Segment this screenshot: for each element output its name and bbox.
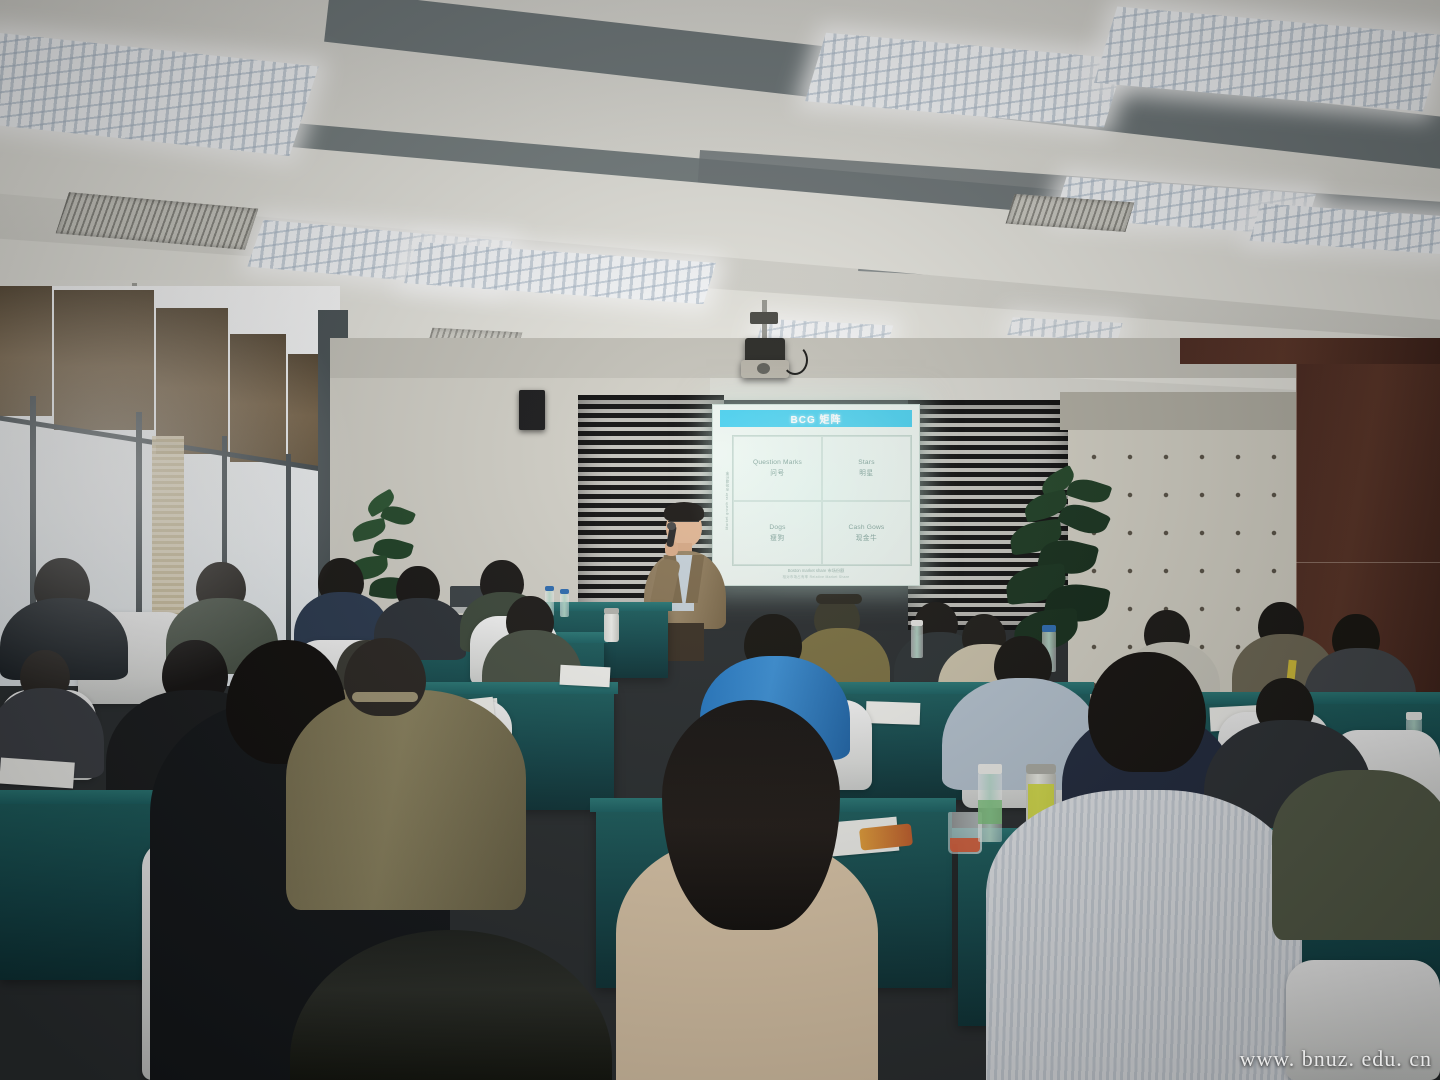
cell-label-en: Question Marks: [753, 459, 802, 466]
window-shade: [230, 334, 286, 462]
handout-paper: [560, 665, 611, 688]
watermark: www. bnuz. edu. cn: [1239, 1046, 1432, 1072]
matrix-cell-dogs: Dogs 瘦狗: [733, 501, 822, 566]
audience-head: [344, 638, 426, 716]
audience-body-striped-shirt: [986, 790, 1302, 1080]
matrix-cell-cash-cows: Cash Gows 现金牛: [822, 501, 911, 566]
cell-label-en: Stars: [858, 459, 874, 466]
window-shade: [0, 286, 52, 416]
cell-label-cn: 明星: [859, 467, 873, 477]
audience-hair: [662, 700, 840, 930]
photo-scene: BCG 矩阵 Market growth rate 市场增长率 Question…: [0, 0, 1440, 1080]
handout-paper: [866, 701, 921, 725]
water-bottle: [911, 624, 923, 658]
bcg-matrix: Question Marks 问号 Stars 明星 Dogs 瘦狗 Cash …: [732, 435, 912, 566]
audience-body-olive: [1272, 770, 1440, 940]
thermos-cup: [604, 612, 619, 642]
audience-body-khaki: [286, 690, 526, 910]
cell-label-cn: 问号: [770, 467, 784, 477]
cell-label-en: Cash Gows: [849, 524, 885, 531]
cell-label-cn: 瘦狗: [770, 532, 784, 542]
slide-footer: Boston market share 市场份额 相对市场占有率 Relativ…: [720, 566, 912, 580]
audience-head: [1088, 652, 1206, 772]
water-bottle: [560, 593, 569, 617]
potted-plant-right: [1010, 470, 1130, 660]
matrix-cell-question-marks: Question Marks 问号: [733, 436, 822, 501]
handout-paper: [0, 757, 75, 788]
ceiling-light-panel: [805, 33, 1125, 128]
wall-speaker-left: [519, 390, 545, 430]
presentation-slide: BCG 矩阵 Market growth rate 市场增长率 Question…: [713, 405, 919, 585]
slide-title-band: BCG 矩阵: [720, 410, 912, 427]
cell-label-en: Dogs: [769, 524, 785, 531]
slide-footer-line-2: 相对市场占有率 Relative Market Share: [783, 574, 850, 579]
matrix-cell-stars: Stars 明星: [822, 436, 911, 501]
projection-screen: BCG 矩阵 Market growth rate 市场增长率 Question…: [712, 404, 920, 586]
window-shade: [54, 290, 154, 430]
wood-wall-top: [1180, 338, 1440, 364]
slide-title-text: BCG 矩阵: [791, 411, 842, 426]
window-shade: [156, 308, 228, 454]
cell-label-cn: 现金牛: [856, 532, 878, 542]
